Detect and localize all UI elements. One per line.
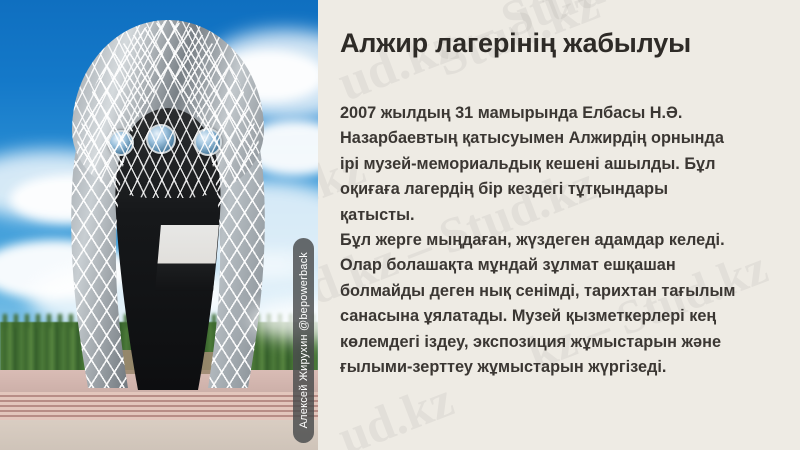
body-paragraph-2: Бұл жерге мыңдаған, жүздеген адамдар кел… — [340, 228, 740, 380]
monument-dome-lattice — [72, 20, 264, 198]
plaza-steps — [0, 392, 318, 420]
arch-of-sorrow-monument — [62, 20, 274, 388]
page-title: Алжир лагерінің жабылуы — [340, 28, 691, 59]
photo-credit-badge: Алексей Жирухин @bepowerback — [293, 238, 314, 443]
body-text: 2007 жылдың 31 мамырында Елбасы Н.Ә. Наз… — [340, 101, 740, 380]
presentation-slide: ud.kz – Stud.kz Stud.kz d.kz – Stud.kz k… — [0, 0, 800, 450]
monument-inner-banner — [155, 225, 219, 291]
plaza-foreground — [0, 420, 318, 450]
photo-credit-text: Алексей Жирухин @bepowerback — [298, 252, 310, 428]
text-column: Алжир лагерінің жабылуы 2007 жылдың 31 м… — [338, 0, 790, 450]
monument-photo — [0, 0, 318, 450]
body-paragraph-1: 2007 жылдың 31 мамырында Елбасы Н.Ә. Наз… — [340, 101, 740, 228]
